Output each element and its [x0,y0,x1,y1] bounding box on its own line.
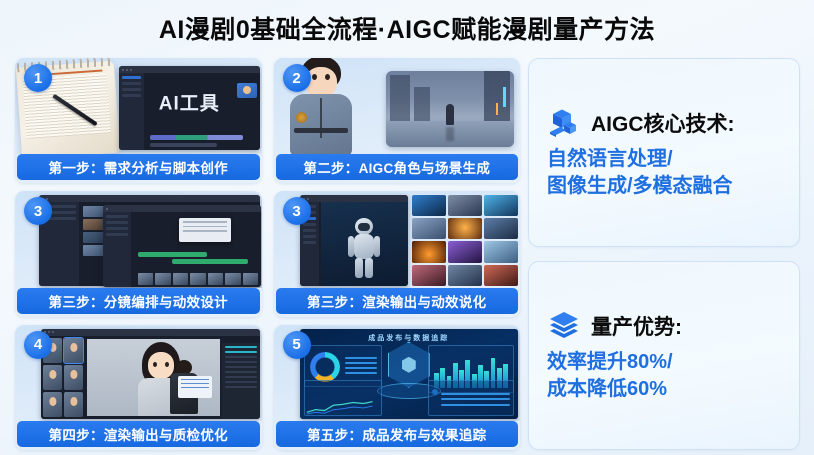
donut-chart [310,352,340,382]
layers-icon [547,309,581,343]
character-thumbnail[interactable] [64,365,83,390]
preview-viewport [87,339,220,416]
dialog-popup [179,218,231,242]
info-panel-advantages: 量产优势: 效率提升80%/ 成本降低60% [528,261,800,450]
visor [358,223,370,231]
timeline-clip [138,252,207,257]
legend-row [345,357,377,359]
board-line [181,379,209,381]
badge-emblem [296,112,307,123]
render-gallery [412,195,519,285]
panel-row [225,376,256,378]
shot-thumbnail [83,232,105,243]
header: AI漫剧0基础全流程·AIGC赋能漫剧量产方法 [0,0,814,56]
panel-row [225,371,256,373]
step-5-badge: 4 [24,331,52,359]
info-panels: AIGC核心技术: 自然语言处理/ 图像生成/多模态融合 量产优势: 效率提升8… [528,58,800,450]
gallery-image[interactable] [448,218,482,239]
gallery-image[interactable] [412,241,446,262]
gallery-image[interactable] [412,195,446,216]
gallery-image[interactable] [448,265,482,286]
film-frame [173,273,189,285]
panel-row [225,366,256,368]
editor-sidebar [103,212,131,286]
timeline-window [103,205,261,286]
gallery-image[interactable] [448,195,482,216]
film-frame [155,273,171,285]
sidebar-item [106,227,128,230]
panel-row [225,381,256,383]
window-titlebar [119,66,260,73]
window-dot-icon [126,69,128,71]
board-line [181,387,209,389]
info-panel-header: 量产优势: [547,309,781,343]
sidebar-item [122,76,141,79]
editor-canvas-text: AI工具 [159,89,220,116]
window-dot-icon [106,208,108,210]
sidebar-item [303,241,316,244]
avatar [432,389,438,395]
panel-row [225,361,256,363]
step-6-visual: 5 成品发布与数据追踪 [274,325,521,421]
panel-row [225,386,256,388]
legend-row [345,367,377,369]
dialog-line [183,226,227,228]
line-chart-panel [304,380,382,416]
render-window [300,195,408,285]
activity-list [432,389,510,409]
dialog-line [183,230,227,232]
sidebar-item [106,215,128,218]
belt [294,128,348,133]
window-dot-icon [307,198,309,200]
window-titlebar [103,205,261,212]
neon-light [503,87,506,107]
editor-sidebar [119,73,144,150]
step-4-label: 第三步：渲染输出与动效说化 [276,288,519,314]
activity-row [441,404,510,406]
step-1-visual: 1 [15,58,262,154]
step-3-label: 第三步：分镜编排与动效设计 [17,288,260,314]
character-thumbnail[interactable] [64,392,83,417]
panel-row [225,356,256,358]
info-panel-line: 自然语言处理/ [547,146,781,172]
sidebar-item [122,82,141,85]
window-dot-icon [130,69,132,71]
sparkline-chart [305,399,374,415]
panel-row [225,351,256,353]
film-frame [225,273,241,285]
step-1-label: 第一步：需求分析与脚本创作 [17,154,260,180]
info-panel-title: AIGC核心技术: [591,108,735,138]
info-panel-line: 成本降低60% [547,376,781,402]
info-panel-core-tech: AIGC核心技术: 自然语言处理/ 图像生成/多模态融合 [528,58,800,247]
shot-thumbnail [83,206,105,217]
3d-viewport [321,202,407,285]
film-frame [243,273,259,285]
properties-panel [222,343,259,419]
eye [325,74,330,80]
step-2-label: 第二步：AIGC角色与场景生成 [276,154,519,180]
gallery-image[interactable] [484,265,518,286]
dashboard-body: 成品发布与数据追踪 [300,329,519,419]
window-body: AI工具 [119,73,260,150]
astronaut-model [347,218,381,278]
window-titlebar [39,195,260,202]
gallery-image[interactable] [412,265,446,286]
building [390,75,410,121]
step-6-badge: 5 [283,331,311,359]
figure-silhouette [446,104,454,125]
torso [354,234,374,259]
sidebar-item [122,94,141,97]
donut-legend [345,354,377,377]
step-card-2[interactable]: 2 [274,58,521,183]
character-thumbnail[interactable] [43,365,62,390]
arm [374,236,380,257]
sidebar-item [106,221,128,224]
window-dot-icon [48,331,50,333]
gallery-image[interactable] [484,218,518,239]
info-panel-line: 效率提升80%/ [547,349,781,375]
timeline-track [150,143,217,147]
step-card-6[interactable]: 5 成品发布与数据追踪 [274,325,521,450]
character-thumbnail-selected[interactable] [64,338,83,363]
whiteboard [178,376,212,398]
step-card-1[interactable]: 1 [15,58,262,183]
window-body [41,336,260,419]
page-title: AI漫剧0基础全流程·AIGC赋能漫剧量产方法 [159,10,655,46]
panel-row [225,346,256,348]
window-body [300,202,408,285]
window-body [103,212,261,286]
sidebar-item [303,229,316,232]
shot-thumbnail [83,219,105,230]
film-frame [138,273,154,285]
step-6-label: 第五步：成品发布与效果追踪 [276,421,519,447]
step-5-visual: 4 [15,325,262,421]
avatar [237,83,257,98]
film-frame [208,273,224,285]
timeline-track [150,135,243,140]
window-dot-icon [52,331,54,333]
sidebar-item [303,223,316,226]
leg [355,258,363,278]
timeline-clip [172,259,248,264]
legend-row [345,372,377,374]
sidebar-item [106,233,128,236]
step-card-5[interactable]: 4 [15,325,262,450]
activity-list-panel [428,380,514,416]
window-titlebar [41,329,260,336]
board-line [181,383,209,385]
activity-row [441,393,510,395]
window-titlebar [300,195,408,202]
steps-grid: 1 [15,58,520,450]
sidebar-item [303,235,316,238]
gallery-image[interactable] [484,241,518,262]
building [414,87,430,121]
dialog-line [183,221,227,223]
window-dot-icon [122,69,124,71]
reflection [446,127,454,141]
step-4-visual: 3 [274,191,521,287]
hologram-hexagon [388,342,430,388]
step-5-label: 第四步：渲染输出与质检优化 [17,421,260,447]
video-editor-window: AI工具 [119,66,260,150]
step-card-4[interactable]: 3 [274,191,521,316]
leg [365,258,373,278]
analytics-dashboard-window: 成品发布与数据追踪 [300,329,519,419]
content-area: 1 [0,50,814,455]
step-2-badge: 2 [283,64,311,92]
activity-row [441,398,510,400]
step-4-badge: 3 [283,197,311,225]
quality-check-window [41,329,260,419]
gallery-image[interactable] [448,241,482,262]
arm [348,236,354,257]
generated-scene-image [386,71,514,147]
step-2-visual: 2 [274,58,521,154]
dashboard-title: 成品发布与数据追踪 [368,333,449,343]
eye [312,74,317,80]
step-1-badge: 1 [24,64,52,92]
step-3-visual: 3 [15,191,262,287]
film-frame [190,273,206,285]
legend-row [345,362,377,364]
character-thumbnail[interactable] [43,392,62,417]
filmstrip [138,273,259,285]
neon-light [496,103,498,115]
gallery-image[interactable] [412,218,446,239]
cube-stack-icon [547,106,581,140]
shot-thumbnail [83,245,105,256]
info-panel-line: 图像生成/多模态融合 [547,173,781,199]
sidebar-item [122,88,141,91]
info-panel-header: AIGC核心技术: [547,106,781,140]
gallery-image[interactable] [484,195,518,216]
info-panel-title: 量产优势: [591,311,682,341]
step-card-3[interactable]: 3 [15,191,262,316]
